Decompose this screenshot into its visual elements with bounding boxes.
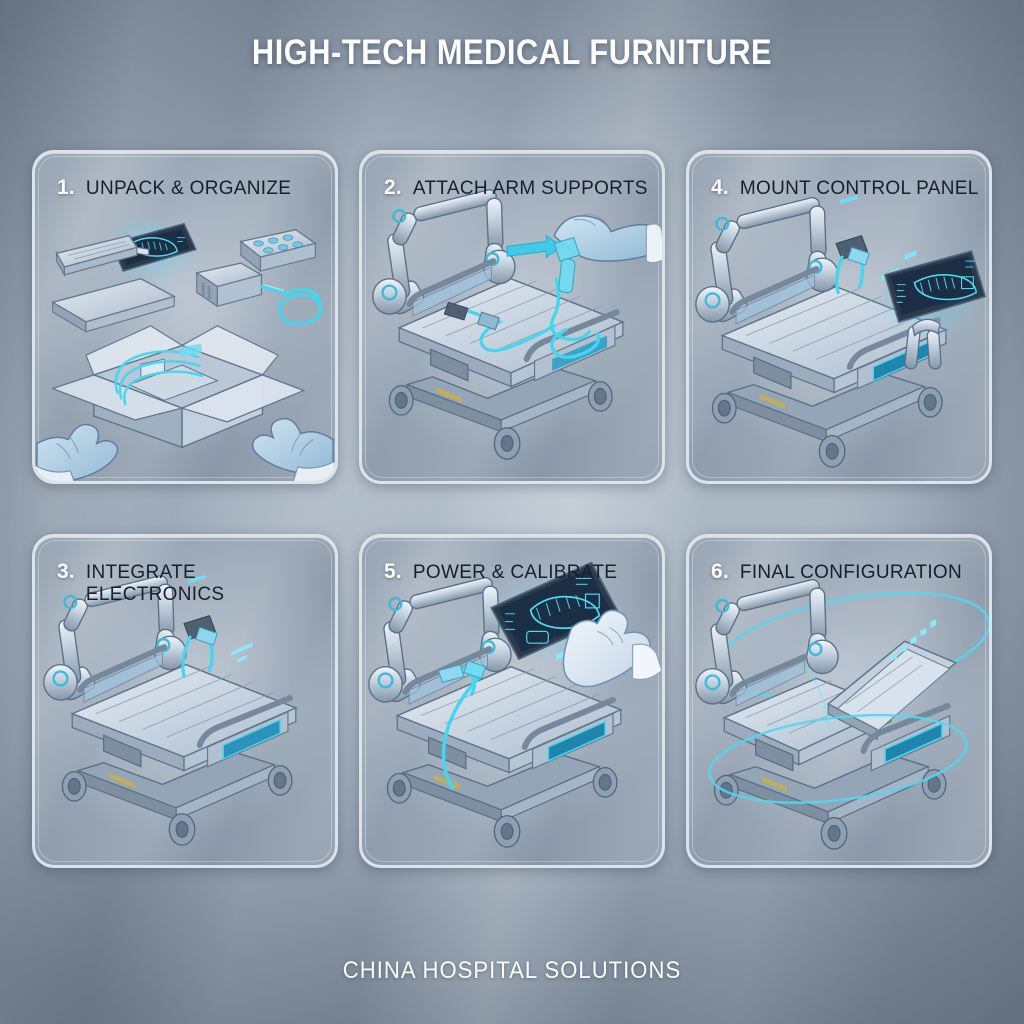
step-illustration-5 — [362, 537, 662, 865]
step-number: 5. — [384, 560, 402, 584]
step-caption-6: 6. FINAL CONFIGURATION — [711, 560, 962, 584]
power-module — [197, 263, 262, 306]
step-label: FINAL CONFIGURATION — [740, 562, 962, 584]
page-title: HIGH-TECH MEDICAL FURNITURE — [61, 33, 962, 73]
step-panel-2[interactable]: 2. ATTACH ARM SUPPORTS — [359, 150, 665, 484]
step-illustration-2 — [362, 153, 662, 481]
step-label: MOUNT CONTROL PANEL — [740, 178, 979, 200]
step-number: 2. — [384, 176, 402, 200]
steps-grid: 1. UNPACK & ORGANIZE — [32, 150, 992, 868]
step-number: 1. — [57, 176, 75, 200]
step-panel-4[interactable]: 4. MOUNT CONTROL PANEL — [686, 150, 992, 484]
step-caption-5: 5. POWER & CALIBRATE — [384, 560, 617, 584]
step-illustration-4 — [689, 153, 989, 481]
step-panel-3[interactable]: 3. INTEGRATE ELECTRONICS — [32, 534, 338, 868]
step-panel-1[interactable]: 1. UNPACK & ORGANIZE — [32, 150, 338, 484]
step-number: 3. — [57, 560, 75, 584]
remote-control-pad — [241, 230, 316, 271]
control-module — [836, 195, 869, 292]
step-illustration-1 — [35, 153, 335, 481]
step-label: UNPACK & ORGANIZE — [86, 178, 291, 200]
step-panel-6[interactable]: 6. FINAL CONFIGURATION — [686, 534, 992, 868]
step-number: 6. — [711, 560, 729, 584]
step-caption-1: 1. UNPACK & ORGANIZE — [57, 176, 291, 200]
step-label: ATTACH ARM SUPPORTS — [413, 178, 648, 200]
step-caption-3: 3. INTEGRATE ELECTRONICS — [57, 560, 335, 606]
step-panel-5[interactable]: 5. POWER & CALIBRATE — [359, 534, 665, 868]
step-label: POWER & CALIBRATE — [413, 562, 617, 584]
step-caption-2: 2. ATTACH ARM SUPPORTS — [384, 176, 648, 200]
step-caption-4: 4. MOUNT CONTROL PANEL — [711, 176, 979, 200]
coiled-cyan-cable — [261, 287, 320, 324]
direction-arrow — [507, 236, 562, 258]
step-number: 4. — [711, 176, 729, 200]
gloved-hand-right — [253, 419, 335, 481]
mattress-panel — [53, 279, 175, 332]
step-label: INTEGRATE ELECTRONICS — [86, 562, 335, 606]
footer-brand: CHINA HOSPITAL SOLUTIONS — [41, 957, 983, 985]
step-illustration-6 — [689, 537, 989, 865]
gloved-hand-left — [35, 424, 118, 481]
